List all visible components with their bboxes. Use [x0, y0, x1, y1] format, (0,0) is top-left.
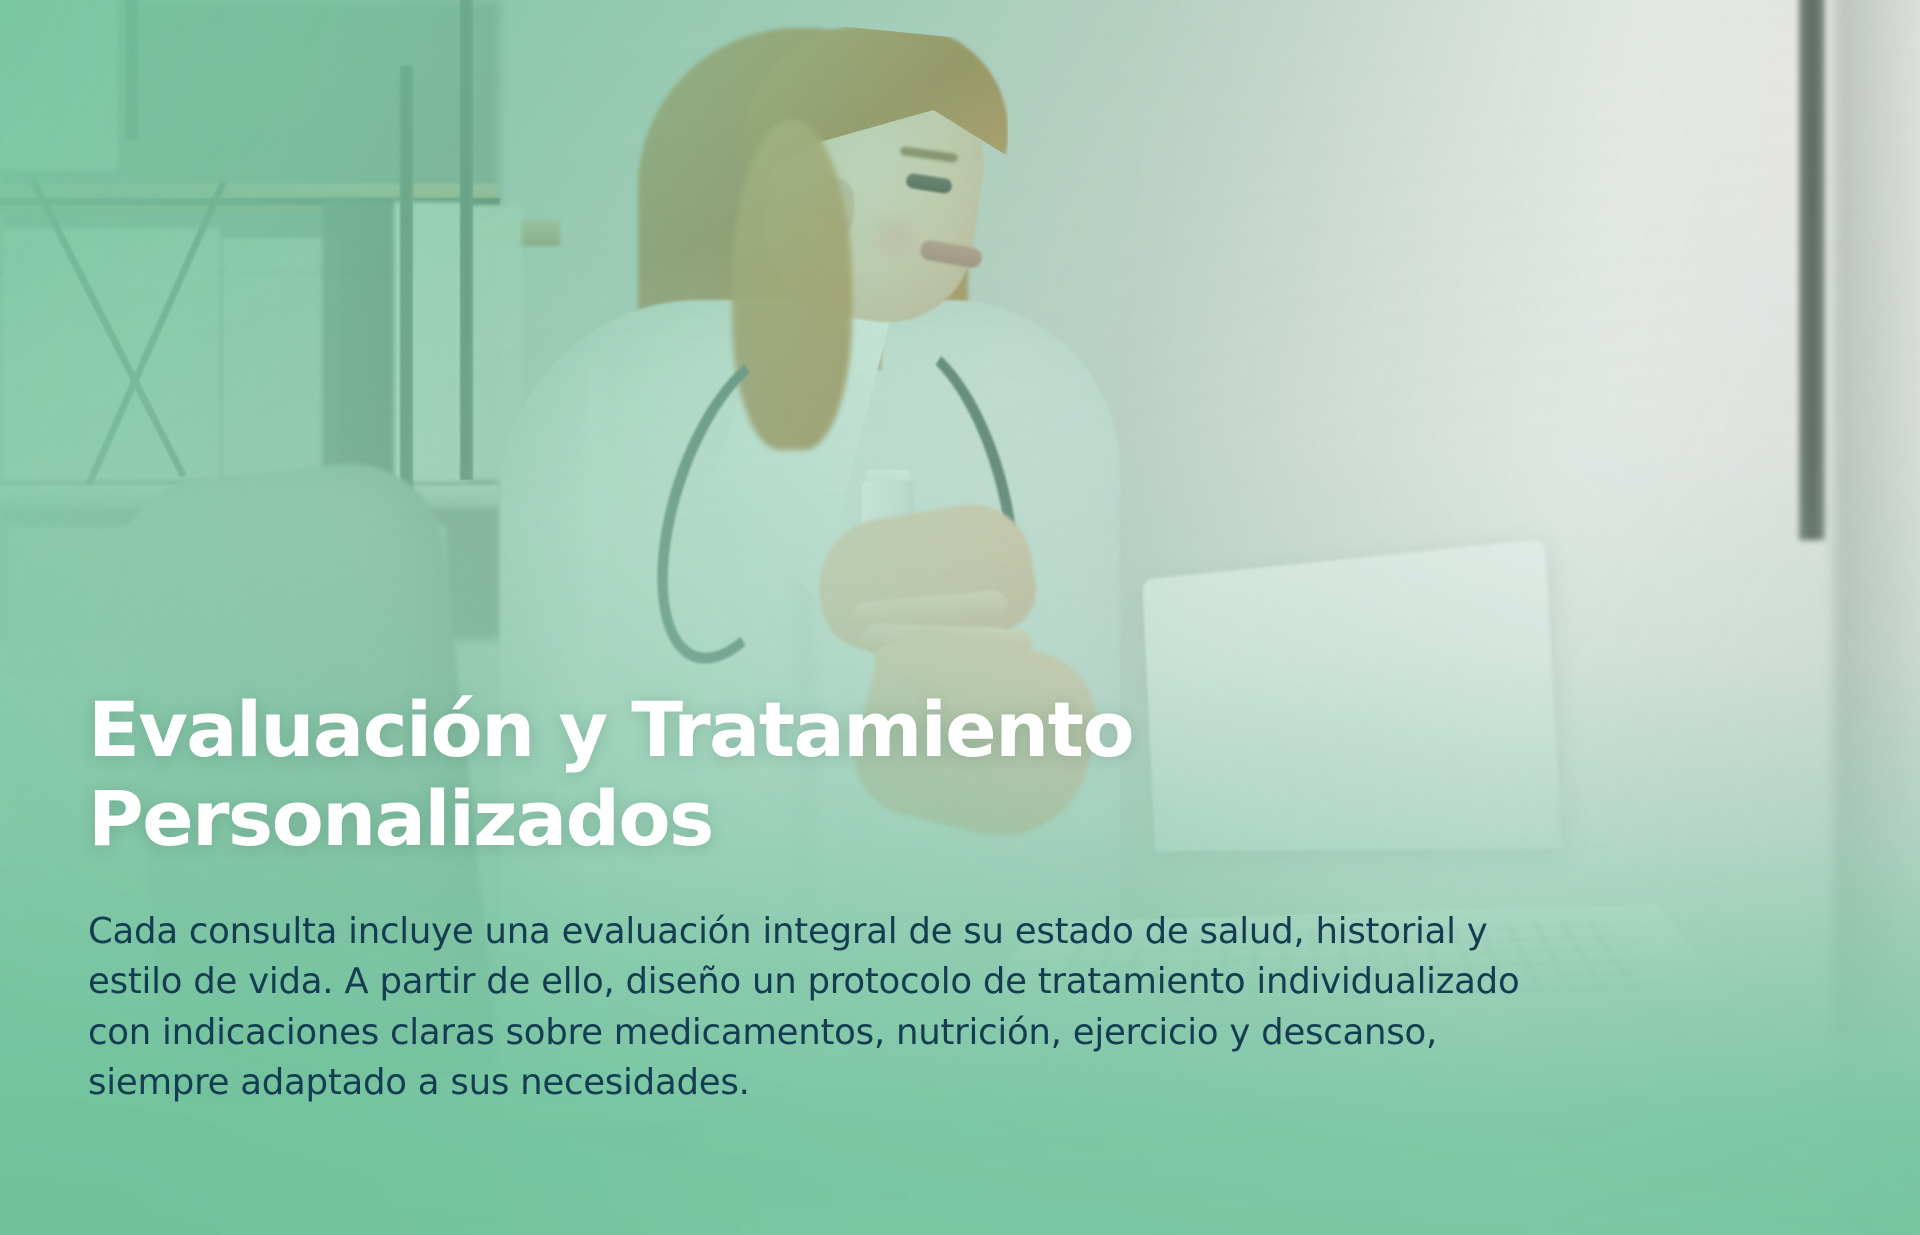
hero-banner: Evaluación y Tratamiento Personalizados …	[0, 0, 1920, 1235]
hero-description: Cada consulta incluye una evaluación int…	[88, 907, 1898, 1108]
hero-copy-block: Evaluación y Tratamiento Personalizados …	[88, 686, 1900, 1108]
page-title: Evaluación y Tratamiento Personalizados	[88, 686, 1148, 863]
